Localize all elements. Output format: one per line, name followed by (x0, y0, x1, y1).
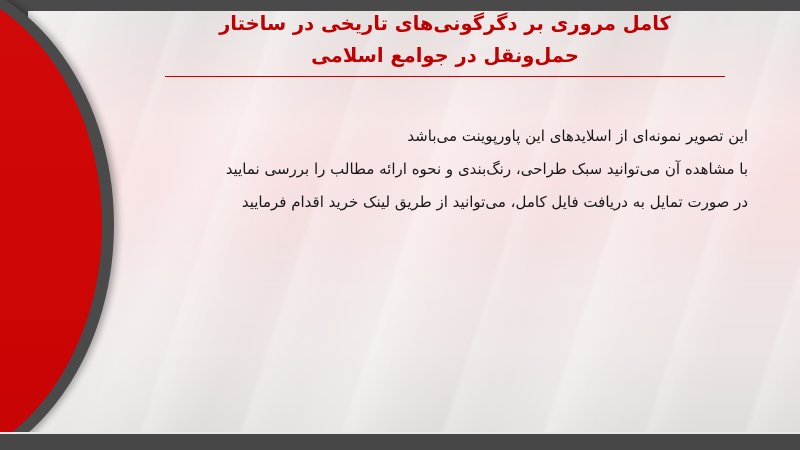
body-line-3: در صورت تمایل به دریافت فایل کامل، می‌تو… (120, 186, 748, 219)
slide-title-line-2: حمل‌ونقل در جوامع اسلامی (120, 40, 770, 72)
slide-title-line-1: کامل مروری بر دگرگونی‌های تاریخی در ساخت… (120, 8, 770, 40)
slide-body-text: این تصویر نمونه‌ای از اسلایدهای این پاور… (120, 120, 748, 219)
slide-frame-bottom-edge (0, 432, 800, 450)
body-line-1: این تصویر نمونه‌ای از اسلایدهای این پاور… (120, 120, 748, 153)
title-underline-rule (165, 76, 725, 77)
slide-title: کامل مروری بر دگرگونی‌های تاریخی در ساخت… (120, 8, 770, 77)
body-line-2: با مشاهده آن می‌توانید سبک طراحی، رنگ‌بن… (120, 153, 748, 186)
presentation-slide: کامل مروری بر دگرگونی‌های تاریخی در ساخت… (0, 0, 800, 450)
